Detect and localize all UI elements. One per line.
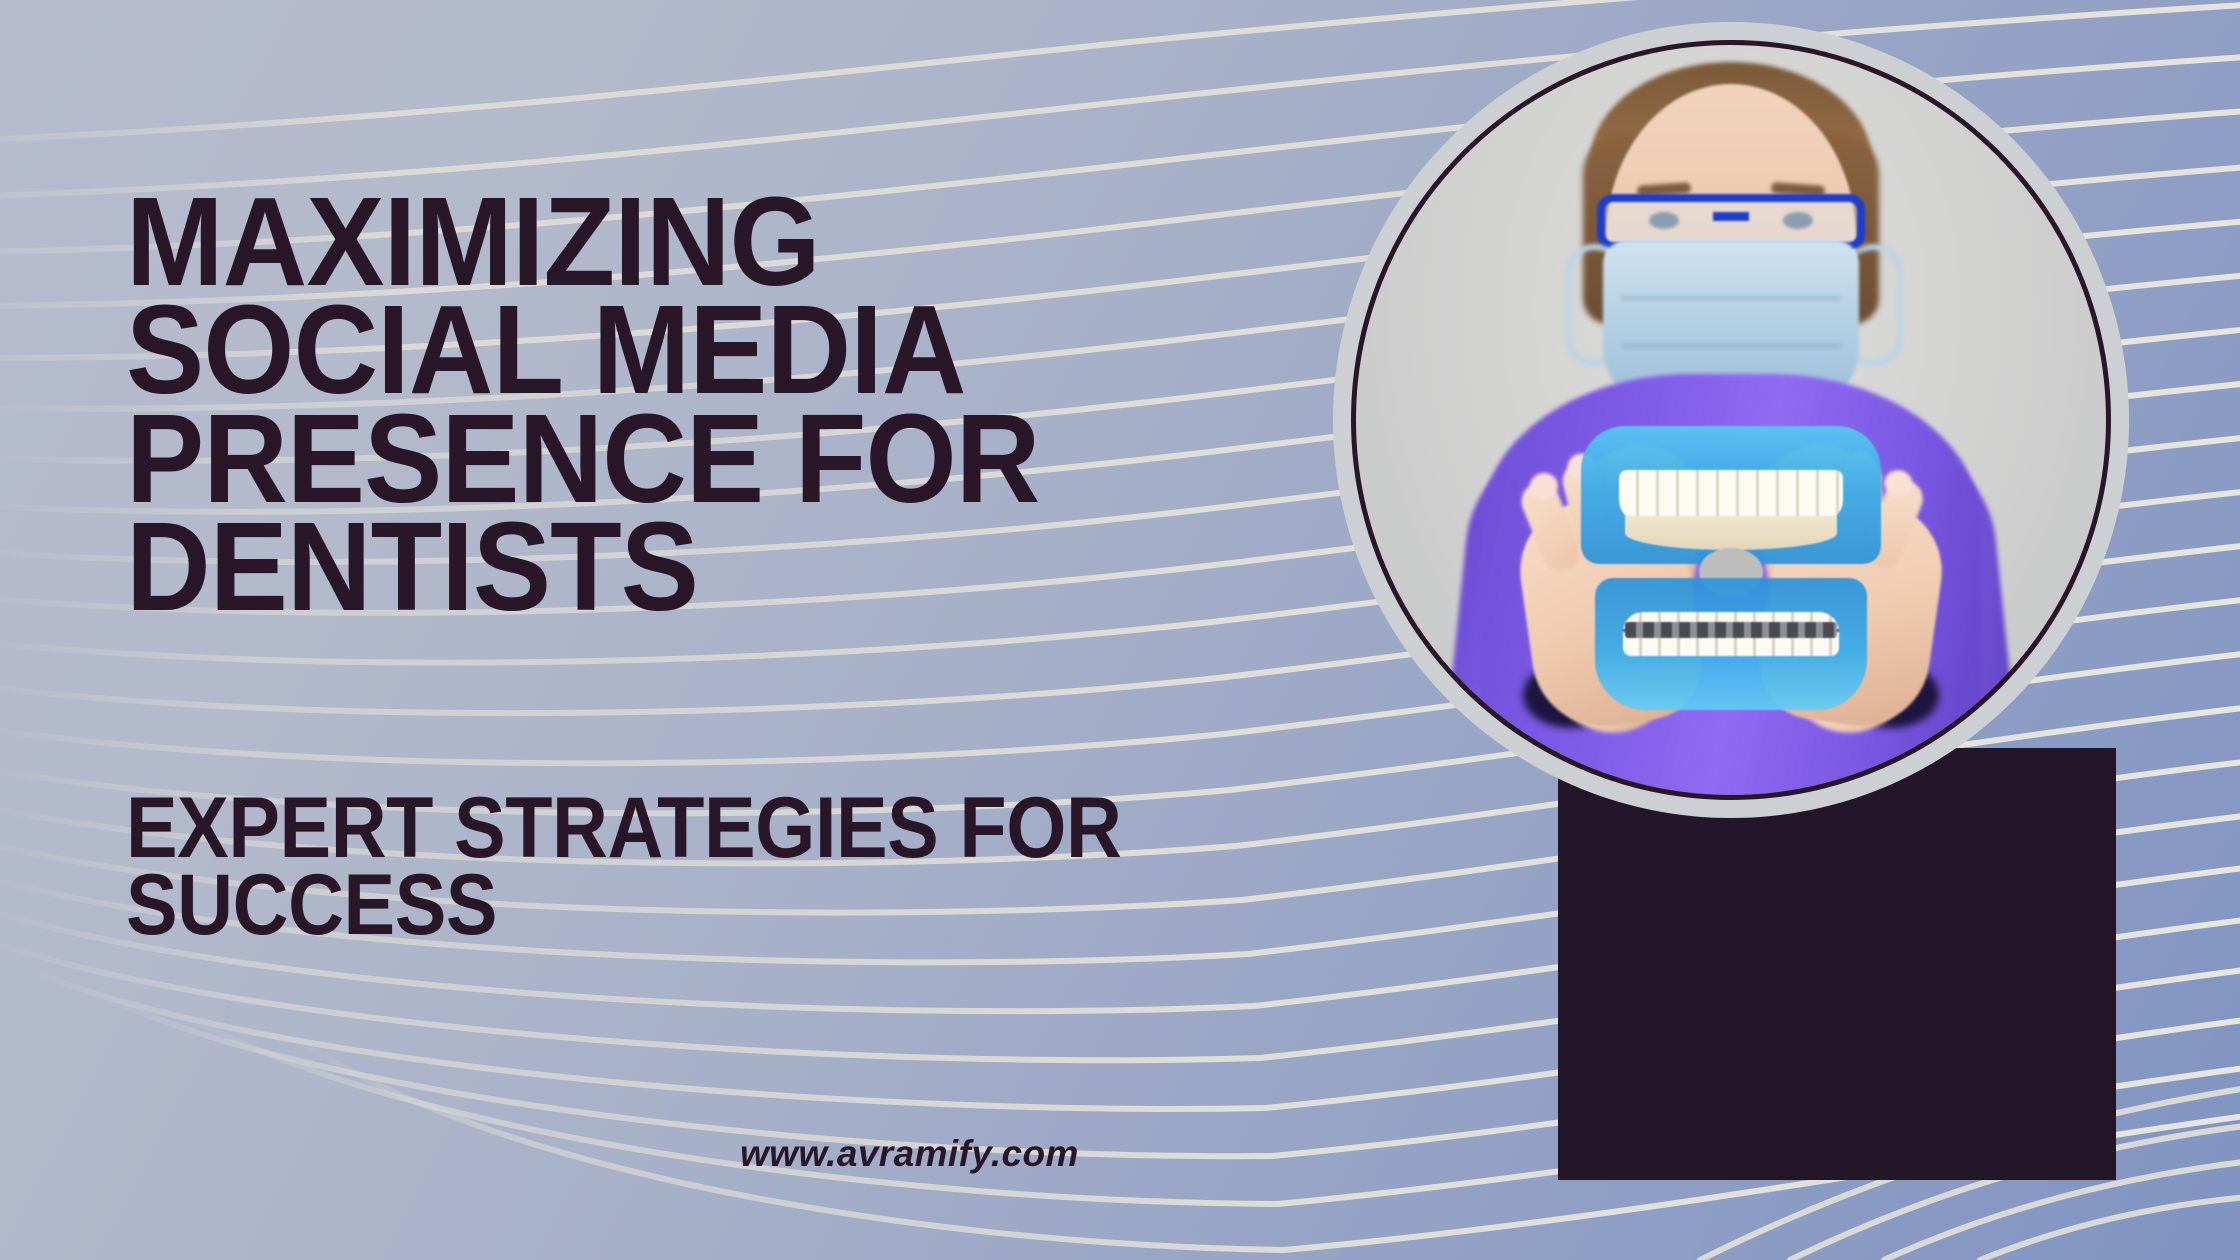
page-title: MAXIMIZING SOCIAL MEDIA PRESENCE FOR DEN… xyxy=(126,188,1205,621)
subheadline-block: EXPERT STRATEGIES FOR SUCCESS xyxy=(126,790,1446,945)
banner-canvas: MAXIMIZING SOCIAL MEDIA PRESENCE FOR DEN… xyxy=(0,0,2240,1260)
dental-model xyxy=(1581,426,1881,716)
goggles-bridge xyxy=(1713,212,1749,221)
website-url[interactable]: www.avramify.com xyxy=(740,1133,1079,1175)
page-subtitle: EXPERT STRATEGIES FOR SUCCESS xyxy=(126,790,1314,945)
upper-teeth xyxy=(1619,470,1843,522)
dentist-photo-circle xyxy=(1333,22,2129,818)
mask-fold xyxy=(1621,296,1841,300)
dark-accent-square xyxy=(1558,748,2116,1180)
dentist-photo xyxy=(1355,44,2107,796)
upper-gum xyxy=(1625,516,1837,550)
mask-fold xyxy=(1621,344,1841,348)
braces-brackets xyxy=(1625,622,1837,638)
headline-block: MAXIMIZING SOCIAL MEDIA PRESENCE FOR DEN… xyxy=(126,188,1286,621)
